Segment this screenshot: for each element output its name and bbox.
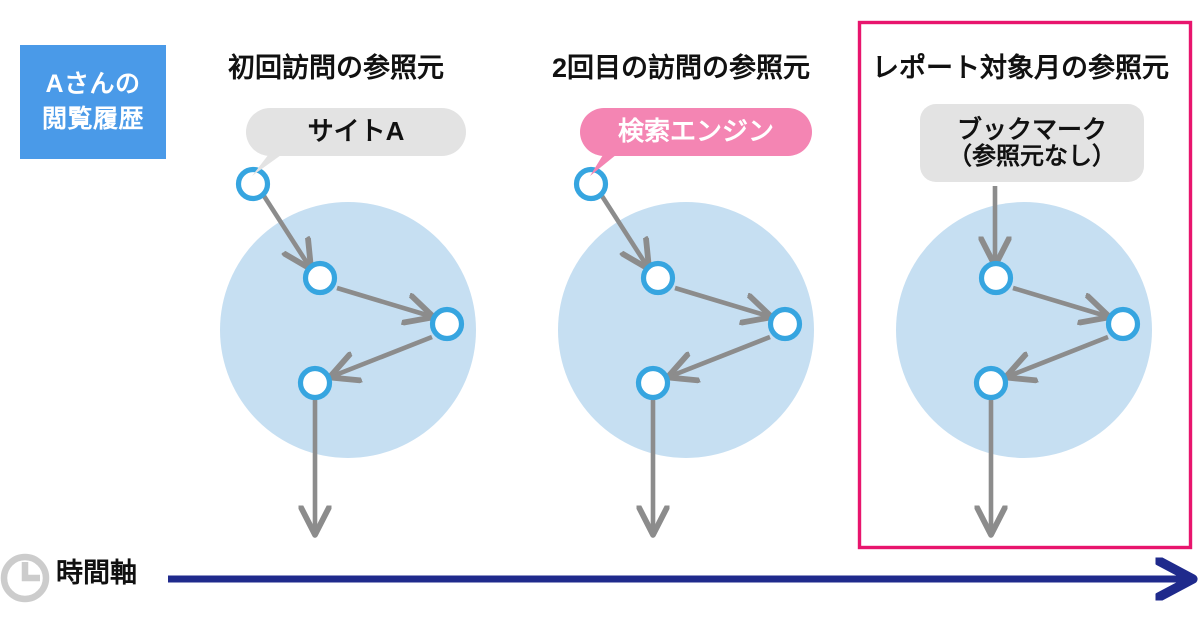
clock-icon [4,557,46,599]
referrer-pill-bookmark-line-1: ブックマーク [957,116,1107,144]
visit-node [1109,310,1138,339]
visit-node [977,369,1006,398]
referrer-pill-site-a: サイトA [246,108,466,156]
visit-node [639,369,668,398]
legend-badge: Aさんの 閲覧履歴 [20,45,166,159]
graphics-layer [0,0,1200,630]
column-header-second-visit: 2回目の訪問の参照元 [552,55,810,82]
visit-node [306,264,335,293]
visit-node [577,170,606,199]
visit-node [301,369,330,398]
referrer-pill-search-engine: 検索エンジン [580,108,812,156]
visit-node [433,310,462,339]
referrer-pill-bookmark-line-2: （参照元なし） [948,144,1116,171]
timeline-label: 時間軸 [56,560,137,587]
column-header-first-visit: 初回訪問の参照元 [228,55,444,82]
visit-node [239,170,268,199]
visit-node [644,264,673,293]
legend-line-1: Aさんの [45,72,140,97]
referrer-pill-bookmark: ブックマーク （参照元なし） [920,104,1144,182]
legend-line-2: 閲覧履歴 [42,107,144,132]
visit-node [982,264,1011,293]
diagram-canvas: Aさんの 閲覧履歴 初回訪問の参照元 2回目の訪問の参照元 レポート対象月の参照… [0,0,1200,630]
visit-node [771,310,800,339]
column-header-report-month: レポート対象月の参照元 [872,55,1169,82]
